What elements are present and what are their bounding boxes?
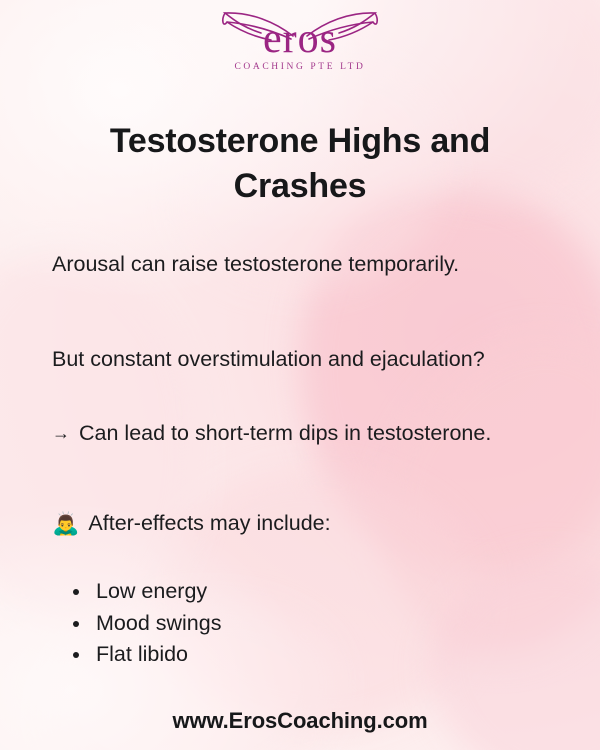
poster-canvas: eros COACHING PTE LTD Testosterone Highs… bbox=[0, 0, 600, 750]
body-paragraph-2: But constant overstimulation and ejacula… bbox=[52, 344, 522, 375]
poster-content: eros COACHING PTE LTD Testosterone Highs… bbox=[0, 0, 600, 750]
arrow-right-icon: → bbox=[52, 418, 70, 449]
logo-mark: eros COACHING PTE LTD bbox=[205, 6, 395, 80]
effects-heading: 🙇‍♂️ After-effects may include: bbox=[52, 508, 522, 539]
logo-tagline: COACHING PTE LTD bbox=[205, 62, 395, 72]
list-item: Mood swings bbox=[92, 608, 221, 640]
list-item: Low energy bbox=[92, 576, 221, 608]
page-title: Testosterone Highs and Crashes bbox=[50, 119, 550, 209]
arrow-callout-text: Can lead to short-term dips in testoster… bbox=[79, 418, 522, 449]
effects-heading-text: After-effects may include: bbox=[88, 508, 330, 539]
body-paragraph-1: Arousal can raise testosterone temporari… bbox=[52, 249, 522, 280]
man-bowing-icon: 🙇‍♂️ bbox=[52, 508, 79, 539]
arrow-callout: → Can lead to short-term dips in testost… bbox=[52, 418, 522, 449]
brand-logo: eros COACHING PTE LTD bbox=[0, 6, 600, 86]
logo-wordmark: eros bbox=[205, 18, 395, 60]
footer-url: www.ErosCoaching.com bbox=[0, 708, 600, 734]
effects-list: Low energy Mood swings Flat libido bbox=[68, 576, 221, 671]
list-item: Flat libido bbox=[92, 639, 221, 671]
